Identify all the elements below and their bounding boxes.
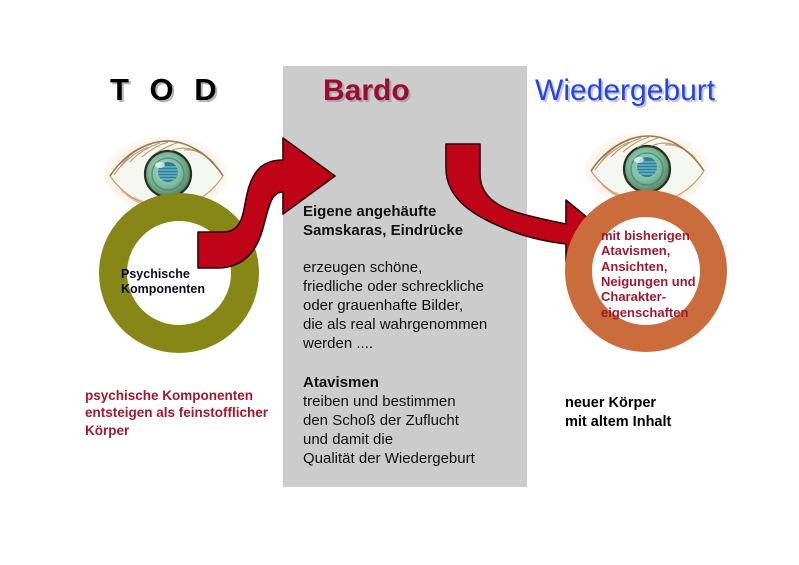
center-heading-2: Atavismen (303, 374, 523, 393)
caption-right: neuer Körper mit altem Inhalt (565, 394, 765, 431)
center-heading-1: Eigene angehäufte Samskaras, Eindrücke (303, 203, 523, 241)
caption-left: psychische Komponenten entsteigen als fe… (85, 387, 285, 439)
diagram-canvas: T O D (0, 0, 799, 565)
title-wiedergeburt: Wiedergeburt (535, 76, 715, 106)
title-tod: T O D (110, 74, 223, 105)
title-bardo: Bardo (323, 76, 410, 106)
center-body-1: erzeugen schöne, friedliche oder schreck… (303, 259, 528, 353)
center-body-2: treiben und bestimmen den Schoß der Zufl… (303, 393, 528, 469)
ring-label-right: mit bisherigen Atavismen, Ansichten, Nei… (601, 228, 705, 320)
ring-label-left: Psychische Komponenten (121, 267, 241, 297)
